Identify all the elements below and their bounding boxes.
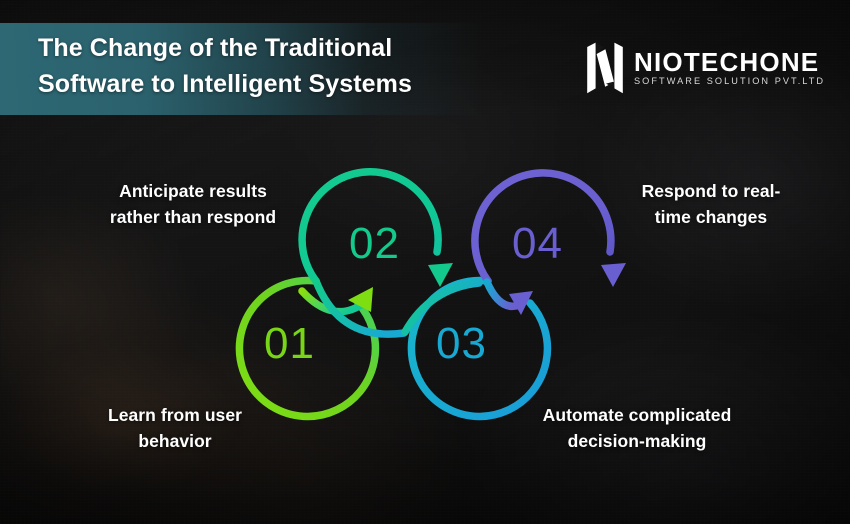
niotechone-n-monogram-icon xyxy=(585,42,625,94)
caption-step-01: Learn from user behavior xyxy=(62,402,288,455)
page-title-line-2: Software to Intelligent Systems xyxy=(38,66,458,102)
page-title-line-1: The Change of the Traditional xyxy=(38,30,458,66)
logo-company-name: NIOTECHONE xyxy=(634,49,825,75)
brand-logo[interactable]: NIOTECHONE SOFTWARE SOLUTION PVT.LTD xyxy=(585,42,825,94)
caption-step-02: Anticipate results rather than respond xyxy=(84,178,302,231)
caption-step-01-line-1: Learn from user xyxy=(62,402,288,428)
logo-tagline: SOFTWARE SOLUTION PVT.LTD xyxy=(634,77,825,86)
step-number-02: 02 xyxy=(349,222,400,266)
caption-step-03-line-1: Automate complicated xyxy=(504,402,770,428)
caption-step-02-line-1: Anticipate results xyxy=(84,178,302,204)
caption-step-04: Respond to real- time changes xyxy=(608,178,814,231)
logo-wordmark: NIOTECHONE SOFTWARE SOLUTION PVT.LTD xyxy=(634,49,825,86)
infographic-slide: The Change of the Traditional Software t… xyxy=(0,0,850,524)
step-number-04: 04 xyxy=(512,222,563,266)
caption-step-02-line-2: rather than respond xyxy=(84,204,302,230)
caption-step-03-line-2: decision-making xyxy=(504,428,770,454)
caption-step-03: Automate complicated decision-making xyxy=(504,402,770,455)
caption-step-04-line-2: time changes xyxy=(608,204,814,230)
caption-step-01-line-2: behavior xyxy=(62,428,288,454)
caption-step-04-line-1: Respond to real- xyxy=(608,178,814,204)
step-number-03: 03 xyxy=(436,322,487,366)
step-number-01: 01 xyxy=(264,322,315,366)
page-title: The Change of the Traditional Software t… xyxy=(38,30,458,102)
